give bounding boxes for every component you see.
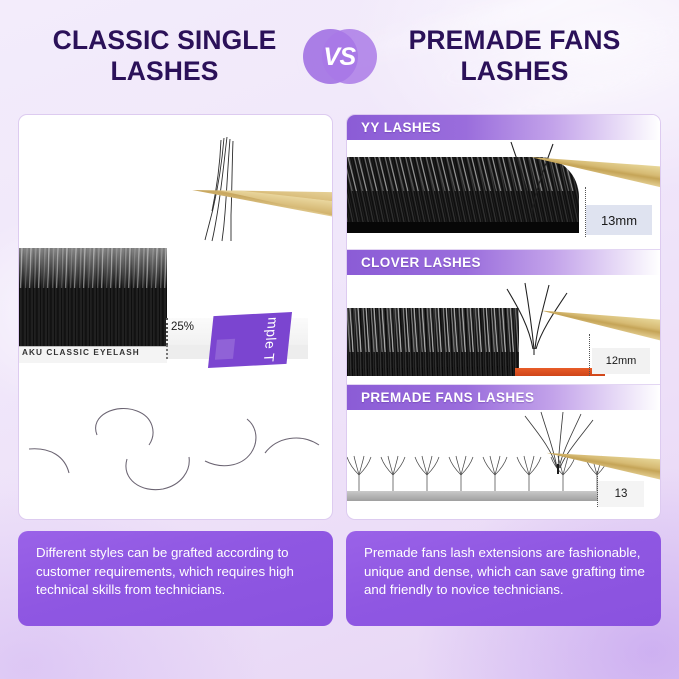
clover-lash-tray	[347, 308, 519, 376]
sample-tag: mple T	[208, 312, 292, 368]
classic-lash-tray: AKU CLASSIC EYELASH	[19, 248, 167, 363]
infographic-page: CLASSIC SINGLE LASHES VS PREMADE FANS LA…	[0, 0, 679, 679]
section-body-premade: 13	[347, 410, 660, 519]
measure-label-13: 13	[598, 481, 644, 507]
section-yy-lashes: YY LASHES 13mm	[347, 115, 660, 250]
section-clover-lashes: CLOVER LASHES	[347, 250, 660, 385]
loose-lash-strands	[197, 137, 257, 243]
section-header-yy: YY LASHES	[347, 115, 660, 140]
section-header-clover: CLOVER LASHES	[347, 250, 660, 275]
section-title: YY LASHES	[347, 120, 441, 135]
section-header-premade: PREMADE FANS LASHES	[347, 385, 660, 410]
right-caption: Premade fans lash extensions are fashion…	[346, 531, 661, 626]
section-body-clover: 12mm	[347, 275, 660, 384]
right-panel: YY LASHES 13mm	[346, 114, 661, 626]
section-body-yy: 13mm	[347, 140, 660, 249]
sample-tag-label: mple T	[261, 317, 282, 363]
yy-fan-strand	[497, 142, 567, 214]
measure-label-12mm: 12mm	[592, 348, 650, 374]
lash-tray-bristles	[19, 248, 167, 346]
section-title: PREMADE FANS LASHES	[347, 390, 534, 405]
comparison-panels: AKU CLASSIC EYELASH 25% mple T	[18, 114, 661, 626]
vs-badge: VS	[302, 25, 378, 87]
vs-label: VS	[323, 45, 355, 70]
header: CLASSIC SINGLE LASHES VS PREMADE FANS LA…	[0, 0, 679, 112]
left-panel: AKU CLASSIC EYELASH 25% mple T	[18, 114, 333, 626]
section-title: CLOVER LASHES	[347, 255, 481, 270]
measure-label-13mm: 13mm	[586, 205, 652, 235]
single-lash-curves	[29, 397, 329, 515]
clover-fan-strand	[499, 283, 575, 355]
premade-fans-base-band	[347, 491, 623, 501]
premade-fans-card: YY LASHES 13mm	[346, 114, 661, 520]
measure-tick	[589, 334, 590, 376]
section-premade-fans-lashes: PREMADE FANS LASHES	[347, 385, 660, 519]
tray-brand-label: AKU CLASSIC EYELASH	[22, 348, 140, 357]
right-title: PREMADE FANS LASHES	[378, 25, 646, 87]
left-title: CLASSIC SINGLE LASHES	[34, 25, 302, 87]
premade-fan-strand	[523, 412, 595, 474]
percent-label: 25%	[171, 321, 194, 333]
classic-lashes-card: AKU CLASSIC EYELASH 25% mple T	[18, 114, 333, 520]
left-caption: Different styles can be grafted accordin…	[18, 531, 333, 626]
